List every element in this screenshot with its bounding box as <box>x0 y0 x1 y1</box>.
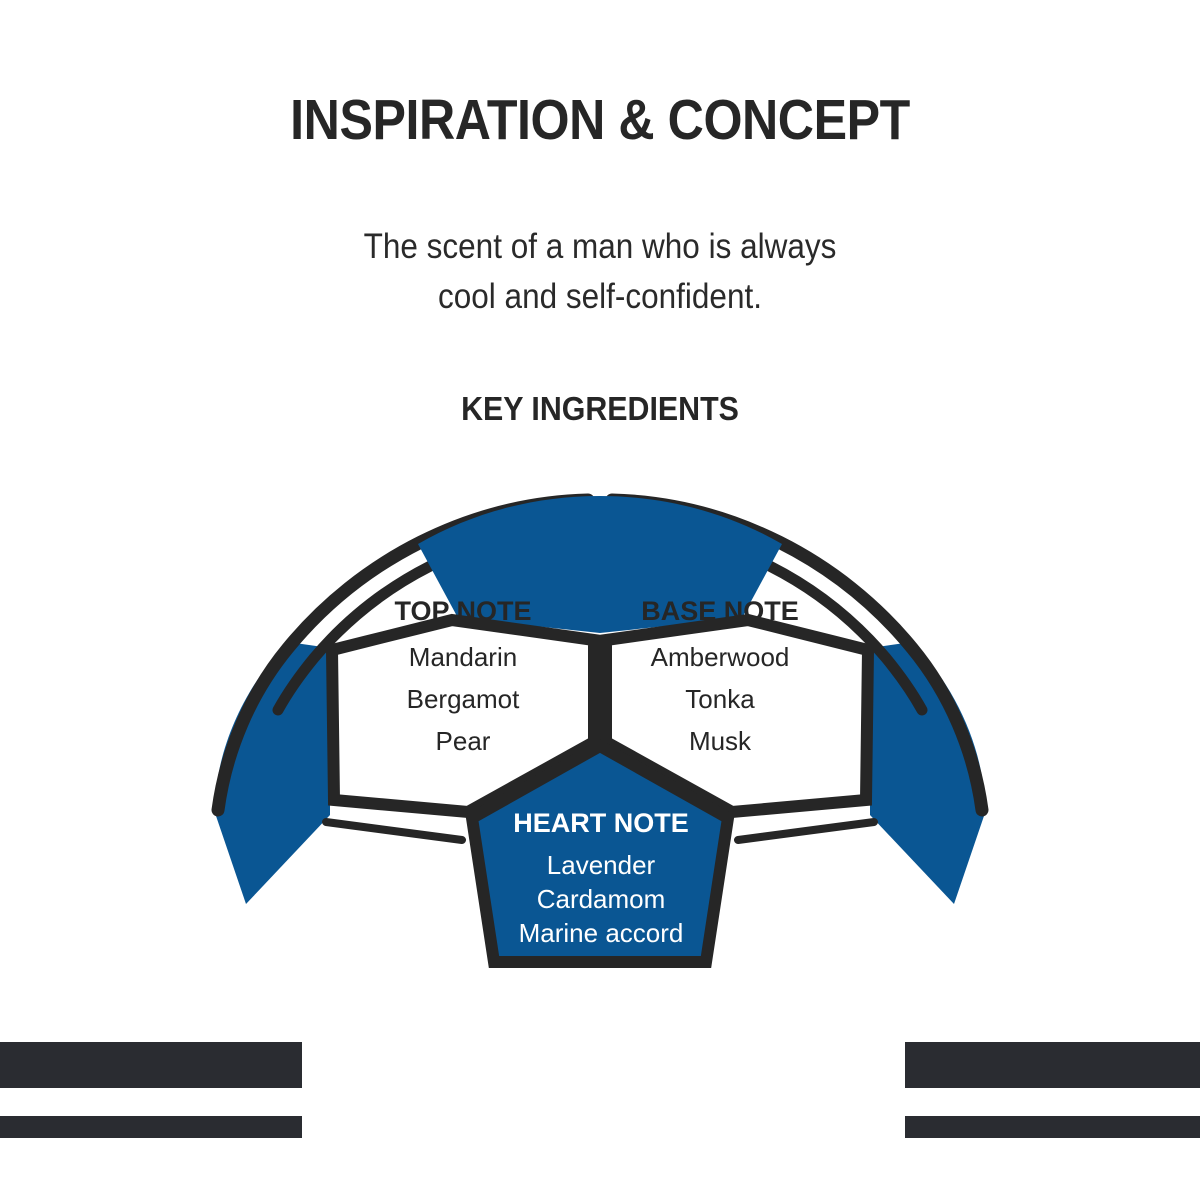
subtitle-line-2: cool and self-confident. <box>222 272 978 322</box>
subtitle-line-1: The scent of a man who is always <box>222 222 978 272</box>
top-note-item-3: Pear <box>436 726 491 756</box>
heart-note-item-2: Cardamom <box>537 884 666 914</box>
footer-bar-left-lower <box>0 1116 302 1138</box>
base-note-item-2: Tonka <box>685 684 755 714</box>
page-title: INSPIRATION & CONCEPT <box>72 92 1128 149</box>
left-wing-blue-panel <box>215 642 330 904</box>
footer-bar-right-upper <box>905 1042 1200 1088</box>
base-note-item-1: Amberwood <box>651 642 790 672</box>
footer-bar-right-lower <box>905 1116 1200 1138</box>
subtitle: The scent of a man who is always cool an… <box>222 222 978 321</box>
top-note-item-2: Bergamot <box>407 684 520 714</box>
base-note-label: BASE NOTE <box>641 596 799 626</box>
left-lower-sliver <box>326 822 462 840</box>
right-wing-blue-panel <box>870 642 985 904</box>
fragrance-pyramid-ball: TOP NOTE Mandarin Bergamot Pear BASE NOT… <box>0 470 1200 1010</box>
right-lower-sliver <box>738 822 874 840</box>
section-title-key-ingredients: KEY INGREDIENTS <box>48 390 1152 428</box>
heart-note-item-1: Lavender <box>547 850 656 880</box>
heart-note-label: HEART NOTE <box>513 808 689 838</box>
footer-bar-left-upper <box>0 1042 302 1088</box>
page-root: INSPIRATION & CONCEPT The scent of a man… <box>0 0 1200 1200</box>
base-note-item-3: Musk <box>689 726 752 756</box>
heart-note-item-3: Marine accord <box>519 918 684 948</box>
top-note-label: TOP NOTE <box>394 596 531 626</box>
top-note-item-1: Mandarin <box>409 642 517 672</box>
